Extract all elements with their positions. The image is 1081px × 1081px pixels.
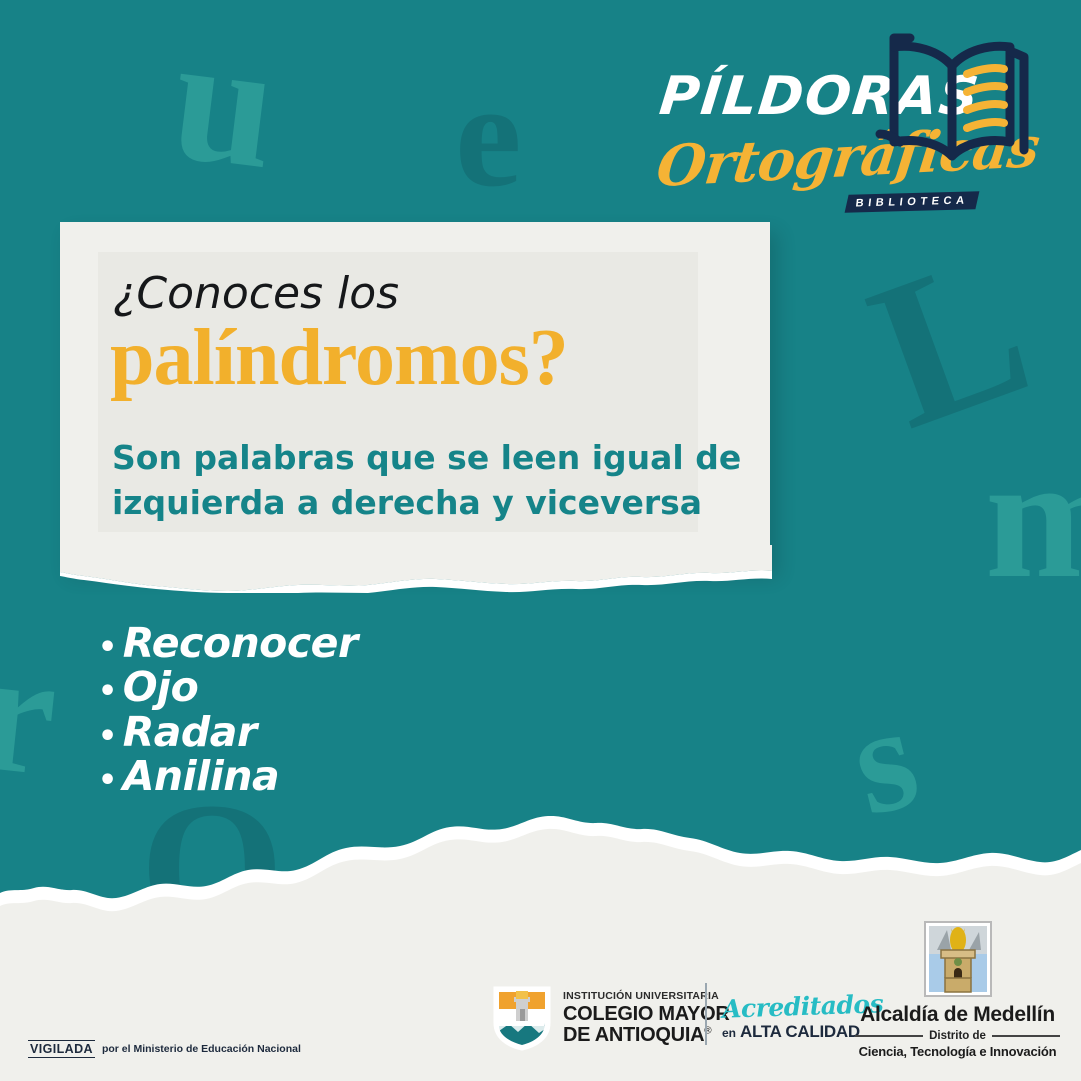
university-line3-text: DE ANTIOQUIA: [563, 1024, 704, 1046]
city-distrito-row: Distrito de: [855, 1030, 1060, 1042]
list-item-label: Radar: [123, 711, 257, 754]
list-item: • Reconocer: [98, 622, 658, 665]
card-torn-edge: [60, 545, 772, 593]
list-item: • Radar: [98, 711, 658, 754]
vigilada-text: por el Ministerio de Educación Nacional: [102, 1043, 301, 1055]
brand-logo: PÍLDORAS Ortográficas BIBLIOTECA: [655, 28, 1055, 188]
brand-tag-label: BIBLIOTECA: [855, 195, 969, 210]
medellin-crest-icon: [923, 920, 993, 998]
list-item-label: Anilina: [123, 755, 279, 798]
background-letter-e: e: [455, 60, 522, 210]
rule-right: [992, 1035, 1060, 1037]
shield-crest-icon: [492, 985, 552, 1051]
accreditation-prefix: en: [722, 1026, 736, 1040]
city-subtitle: Ciencia, Tecnología e Innovación: [855, 1044, 1060, 1059]
vigilada-notice: VIGILADA por el Ministerio de Educación …: [28, 1040, 301, 1058]
list-item: • Anilina: [98, 755, 658, 798]
city-logo: Alcaldía de Medellín Distrito de Ciencia…: [855, 920, 1060, 1059]
bullet-icon: •: [98, 722, 117, 752]
list-item-label: Reconocer: [123, 622, 358, 665]
vigilada-badge: VIGILADA: [28, 1040, 95, 1058]
list-item-label: Ojo: [123, 666, 199, 709]
background-letter-u: u: [164, 7, 285, 198]
background-letter-r: r: [0, 621, 65, 803]
open-book-icon: [870, 30, 1040, 180]
footer-divider: [705, 983, 707, 1045]
card-headline: palíndromos?: [110, 318, 568, 398]
university-logo: INSTITUCIÓN UNIVERSITARIA COLEGIO MAYOR …: [492, 985, 730, 1051]
card-subtext: Son palabras que se leen igual de izquie…: [112, 436, 752, 525]
rule-left: [855, 1035, 923, 1037]
accreditation-emphasis: ALTA CALIDAD: [740, 1022, 860, 1042]
card-kicker: ¿Conoces los: [113, 268, 399, 319]
poster-canvas: u e L m r s O PÍLDORAS Ortográficas BIBL…: [0, 0, 1081, 1081]
background-letter-m: m: [985, 430, 1081, 605]
bullet-icon: •: [98, 633, 117, 663]
city-distrito: Distrito de: [929, 1030, 986, 1042]
bullet-icon: •: [98, 677, 117, 707]
examples-list: • Reconocer • Ojo • Radar • Anilina: [98, 622, 658, 800]
list-item: • Ojo: [98, 666, 658, 709]
city-title: Alcaldía de Medellín: [855, 1003, 1060, 1027]
bullet-icon: •: [98, 766, 117, 796]
background-letter-l: L: [848, 217, 1051, 462]
brand-tag-banner: BIBLIOTECA: [845, 191, 980, 212]
